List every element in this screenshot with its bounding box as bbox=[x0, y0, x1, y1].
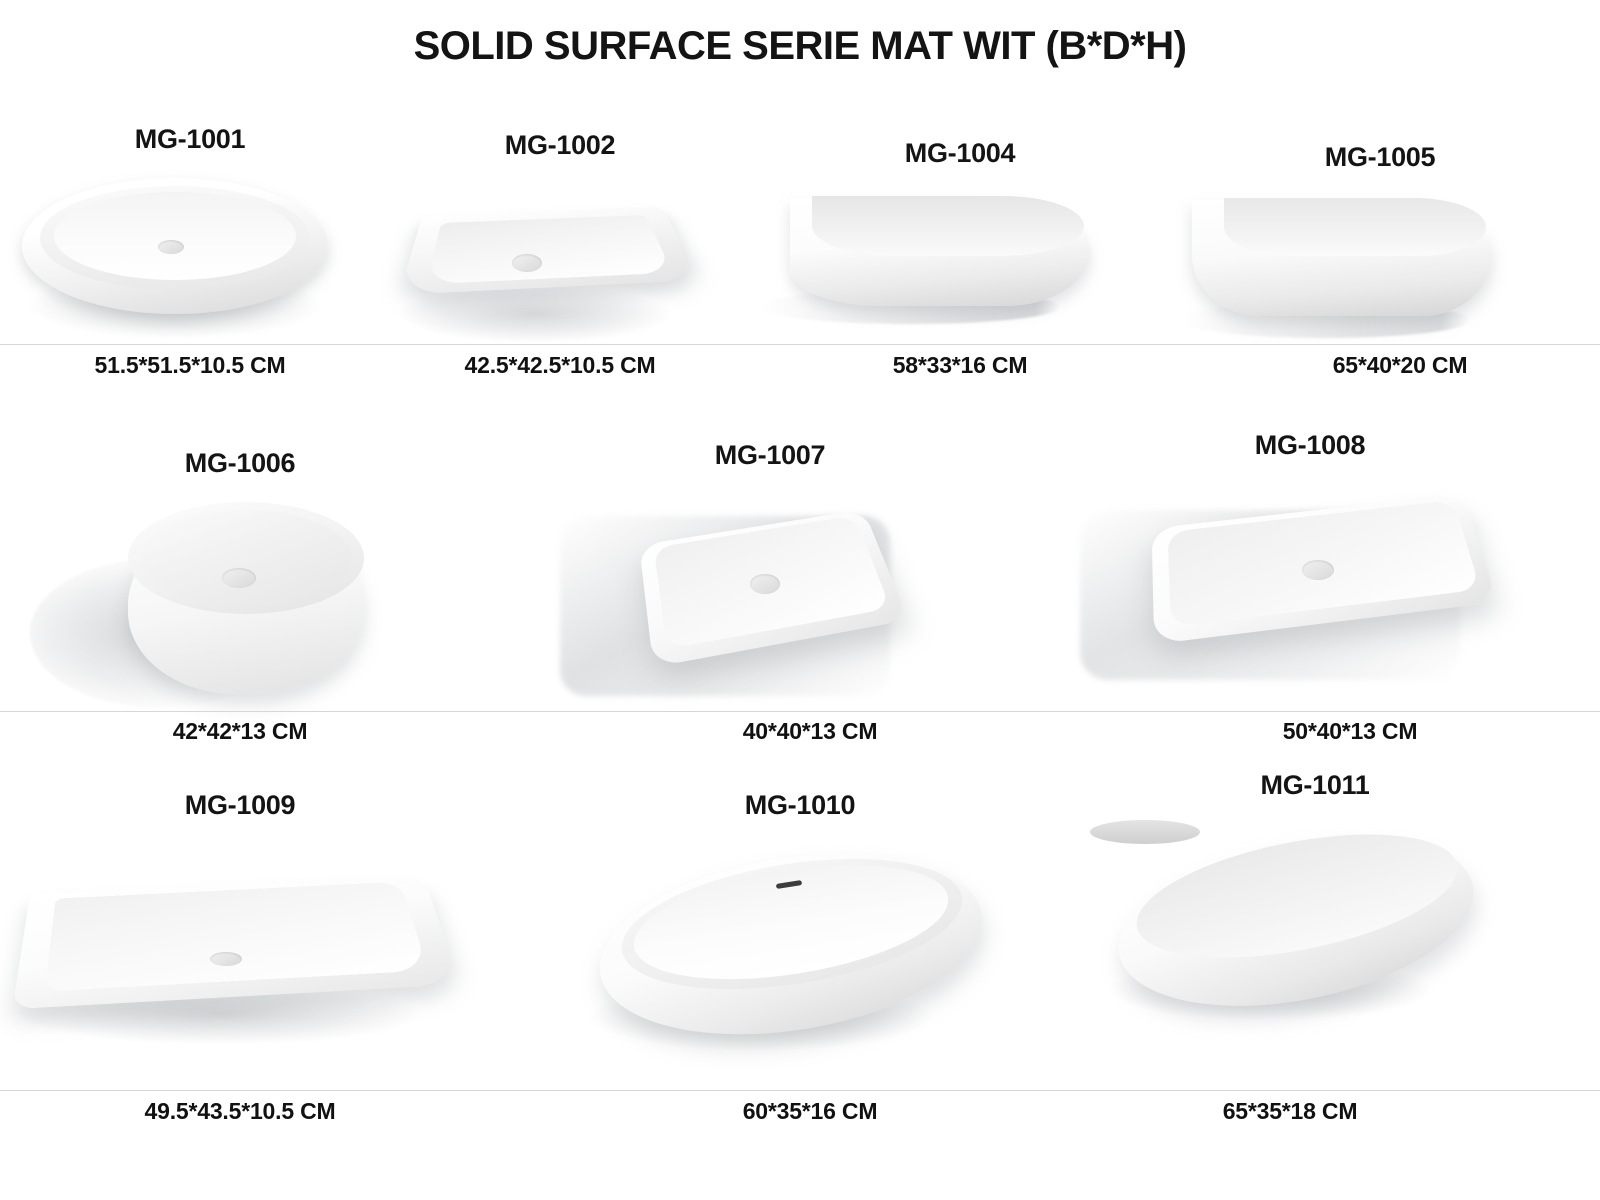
product-card-mg-1004[interactable]: MG-1004 bbox=[760, 130, 1160, 380]
product-card-mg-1001[interactable]: MG-1001 bbox=[10, 110, 370, 360]
product-card-mg-1009[interactable]: MG-1009 bbox=[10, 790, 470, 1110]
product-image-mg-1009 bbox=[10, 834, 470, 1094]
product-card-mg-1007[interactable]: MG-1007 bbox=[560, 440, 980, 710]
dimension-text: 42*42*13 CM bbox=[70, 718, 410, 745]
product-model-label: MG-1008 bbox=[1080, 430, 1540, 461]
drain-icon bbox=[210, 952, 242, 966]
drain-icon bbox=[750, 574, 780, 594]
page-title: SOLID SURFACE SERIE MAT WIT (B*D*H) bbox=[0, 24, 1600, 69]
product-image-mg-1004 bbox=[760, 172, 1160, 362]
product-model-label: MG-1007 bbox=[560, 440, 980, 471]
dimension-text: 51.5*51.5*10.5 CM bbox=[10, 352, 370, 379]
product-row-3: MG-1009 MG-1010 MG-1011 bbox=[0, 770, 1600, 1140]
basin-foot bbox=[1090, 820, 1200, 844]
dimension-text: 60*35*16 CM bbox=[660, 1098, 960, 1125]
row-divider-3 bbox=[0, 1090, 1600, 1091]
product-image-mg-1011 bbox=[1090, 820, 1540, 1080]
product-image-mg-1002 bbox=[390, 166, 730, 356]
dimension-text: 58*33*16 CM bbox=[810, 352, 1110, 379]
dimension-text: 42.5*42.5*10.5 CM bbox=[390, 352, 730, 379]
product-image-mg-1010 bbox=[580, 834, 1020, 1094]
product-image-mg-1008 bbox=[1080, 474, 1540, 704]
product-image-mg-1007 bbox=[560, 482, 980, 712]
basin-well bbox=[140, 510, 352, 606]
product-image-mg-1001 bbox=[10, 160, 370, 350]
product-card-mg-1006[interactable]: MG-1006 bbox=[30, 448, 450, 718]
product-row-2: MG-1006 MG-1007 MG-1008 bbox=[0, 430, 1600, 750]
drop-shadow bbox=[400, 286, 670, 342]
basin-well bbox=[1224, 198, 1486, 256]
product-model-label: MG-1002 bbox=[390, 130, 730, 161]
product-model-label: MG-1004 bbox=[760, 138, 1160, 169]
dimension-text: 40*40*13 CM bbox=[660, 718, 960, 745]
product-model-label: MG-1010 bbox=[580, 790, 1020, 821]
product-model-label: MG-1006 bbox=[30, 448, 450, 479]
drain-icon bbox=[158, 240, 184, 254]
product-image-mg-1005 bbox=[1180, 178, 1580, 368]
product-model-label: MG-1011 bbox=[1090, 770, 1540, 801]
dimension-text: 65*40*20 CM bbox=[1250, 352, 1550, 379]
drain-icon bbox=[512, 254, 542, 272]
row-divider-1 bbox=[0, 344, 1600, 345]
row-divider-2 bbox=[0, 711, 1600, 712]
product-catalog-sheet: SOLID SURFACE SERIE MAT WIT (B*D*H) MG-1… bbox=[0, 0, 1600, 1200]
product-model-label: MG-1005 bbox=[1180, 142, 1580, 173]
product-row-1: MG-1001 MG-1002 MG-1004 bbox=[0, 110, 1600, 390]
basin-well bbox=[812, 196, 1084, 256]
product-model-label: MG-1009 bbox=[10, 790, 470, 821]
drain-icon bbox=[222, 568, 256, 588]
basin-well bbox=[427, 215, 672, 284]
dimension-text: 50*40*13 CM bbox=[1200, 718, 1500, 745]
product-card-mg-1010[interactable]: MG-1010 bbox=[580, 790, 1020, 1110]
product-card-mg-1011[interactable]: MG-1011 bbox=[1090, 770, 1540, 1090]
dimension-text: 65*35*18 CM bbox=[1140, 1098, 1440, 1125]
dimension-text: 49.5*43.5*10.5 CM bbox=[40, 1098, 440, 1125]
basin-well bbox=[54, 192, 296, 280]
product-image-mg-1006 bbox=[30, 488, 450, 718]
product-card-mg-1002[interactable]: MG-1002 bbox=[390, 120, 730, 370]
product-card-mg-1008[interactable]: MG-1008 bbox=[1080, 430, 1540, 710]
product-model-label: MG-1001 bbox=[10, 124, 370, 155]
drain-icon bbox=[1302, 560, 1334, 580]
